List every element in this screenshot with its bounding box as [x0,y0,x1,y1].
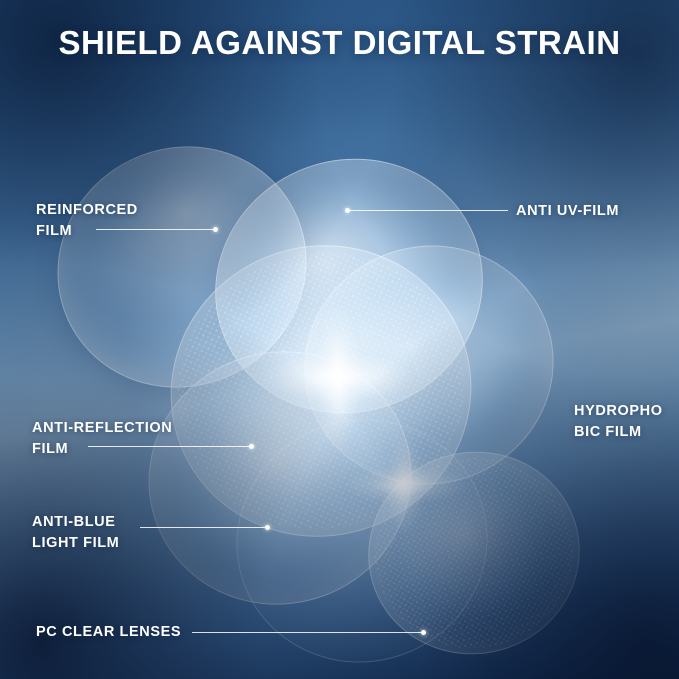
leader-dot-pc-clear-lenses [421,630,426,635]
leader-line-reinforced-film [96,229,216,230]
leader-line-anti-uv-film [348,210,508,211]
leader-dot-anti-blue-light-film [265,525,270,530]
callout-anti-uv-film: ANTI UV-FILM [516,201,656,222]
callout-anti-reflection-film: ANTI-REFLECTION FILM [32,418,202,460]
callout-anti-blue-light-film: ANTI-BLUE LIGHT FILM [32,512,192,554]
leader-dot-anti-uv-film [345,208,350,213]
page-title: SHIELD AGAINST DIGITAL STRAIN [0,22,679,64]
callout-hydrophobic-film: HYDROPHO BIC FILM [574,401,674,443]
leader-line-anti-blue-light-film [140,527,268,528]
product-infographic: SHIELD AGAINST DIGITAL STRAIN REINFORCED… [0,0,679,679]
callout-reinforced-film: REINFORCED FILM [36,200,186,242]
leader-dot-reinforced-film [213,227,218,232]
leader-dot-anti-reflection-film [249,444,254,449]
leader-line-pc-clear-lenses [192,632,424,633]
leader-line-anti-reflection-film [88,446,252,447]
